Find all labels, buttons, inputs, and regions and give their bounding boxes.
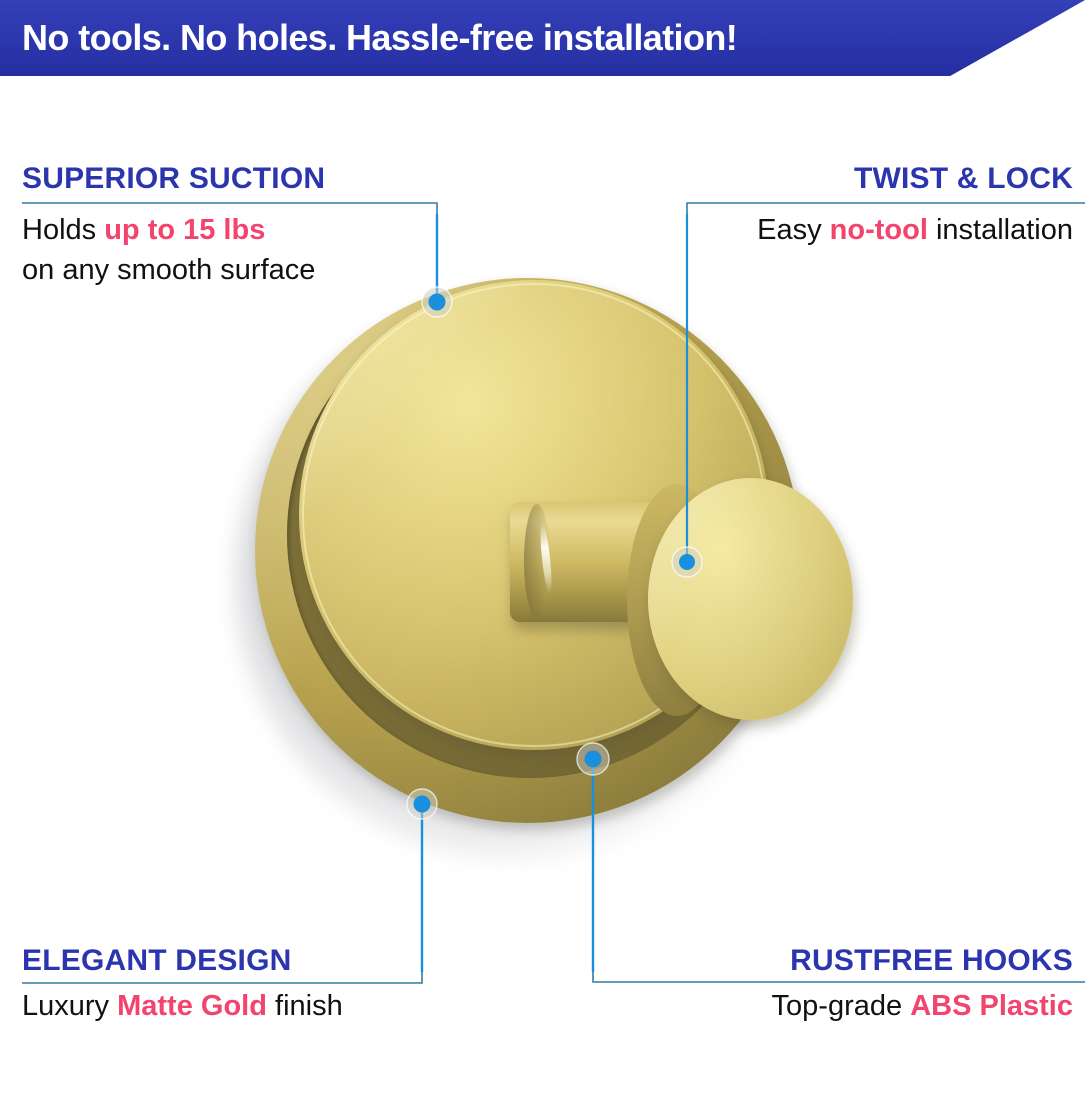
callout-subtext-line2: on any smooth surface bbox=[22, 250, 315, 290]
callout-heading-twist-and-lock: TWIST & LOCK bbox=[854, 162, 1073, 196]
infographic-page: No tools. No holes. Hassle-free installa… bbox=[0, 0, 1085, 1100]
sub-prefix: Luxury bbox=[22, 990, 117, 1022]
callout-subtext-elegant-design: Luxury Matte Gold finish bbox=[22, 986, 343, 1026]
sub-suffix: installation bbox=[928, 214, 1073, 246]
callout-subtext-twist-and-lock: Easy no-tool installation bbox=[757, 210, 1073, 250]
sub-highlight: no-tool bbox=[830, 214, 928, 246]
product-image-suction-hook bbox=[180, 240, 880, 900]
sub-prefix: Easy bbox=[757, 214, 830, 246]
callout-heading-superior-suction: SUPERIOR SUCTION bbox=[22, 162, 325, 196]
callout-subtext-line1: Easy no-tool installation bbox=[757, 210, 1073, 250]
callout-heading-elegant-design: ELEGANT DESIGN bbox=[22, 944, 292, 978]
callout-subtext-superior-suction: Holds up to 15 lbs on any smooth surface bbox=[22, 210, 315, 290]
callout-subtext-line1: Top-grade ABS Plastic bbox=[772, 986, 1073, 1026]
callout-subtext-line1: Holds up to 15 lbs bbox=[22, 210, 315, 250]
sub-highlight: up to 15 lbs bbox=[104, 214, 265, 246]
sub-prefix: Holds bbox=[22, 214, 104, 246]
sub-suffix: finish bbox=[267, 990, 343, 1022]
knob-cap-shading bbox=[648, 478, 853, 720]
banner-headline: No tools. No holes. Hassle-free installa… bbox=[22, 5, 737, 71]
callout-heading-rustfree-hooks: RUSTFREE HOOKS bbox=[790, 944, 1073, 978]
callout-subtext-line1: Luxury Matte Gold finish bbox=[22, 986, 343, 1026]
sub-highlight: Matte Gold bbox=[117, 990, 267, 1022]
sub-highlight: ABS Plastic bbox=[910, 990, 1073, 1022]
callout-subtext-rustfree-hooks: Top-grade ABS Plastic bbox=[772, 986, 1073, 1026]
sub-prefix: Top-grade bbox=[772, 990, 911, 1022]
